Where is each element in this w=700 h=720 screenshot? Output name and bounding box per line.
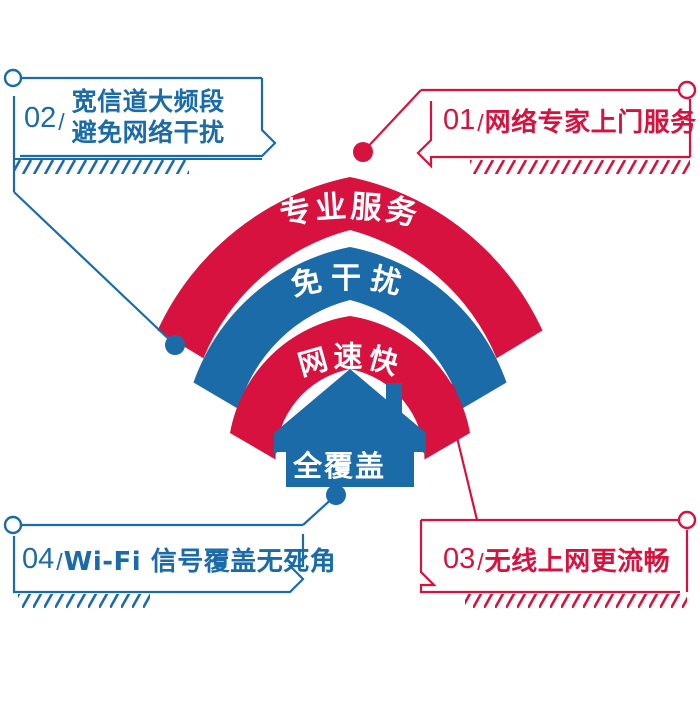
callout-03-number: 03	[443, 543, 475, 576]
callout-04-text: Wi-Fi 信号覆盖无死角	[64, 541, 337, 578]
callout-03[interactable]: 03 / 无线上网更流畅	[443, 541, 670, 578]
callout-02-line2: 避免网络干扰	[72, 118, 225, 147]
hatch-03	[465, 594, 687, 608]
dot-02	[165, 335, 185, 355]
endpoint-circle-04	[5, 517, 21, 533]
callout-01-number: 01	[443, 104, 475, 137]
endpoint-circle-02	[5, 70, 21, 86]
callout-01[interactable]: 01 / 网络专家上门服务	[443, 102, 697, 139]
connector-02-diagonal	[14, 192, 175, 345]
callout-04-number: 04	[22, 543, 54, 576]
connector-04	[20, 495, 336, 525]
callout-02-number: 02	[24, 102, 56, 135]
infographic-canvas: 专业服务 免干扰 网速快 全覆盖 02 / 宽信道大频段 避免网络干扰 01 /…	[0, 0, 700, 720]
house-label: 全覆盖	[293, 443, 386, 485]
callout-01-text: 网络专家上门服务	[485, 102, 697, 139]
dot-04	[326, 485, 346, 505]
connector-01-diagonal	[363, 90, 421, 152]
callout-02-text: 宽信道大频段 避免网络干扰	[72, 86, 225, 148]
callout-02-line1: 宽信道大频段	[72, 87, 225, 116]
hatch-04	[18, 594, 150, 608]
callout-04[interactable]: 04 / Wi-Fi 信号覆盖无死角	[22, 541, 336, 578]
dot-01	[353, 142, 373, 162]
hatch-02	[14, 160, 189, 174]
callout-02[interactable]: 02 / 宽信道大频段 避免网络干扰	[24, 86, 225, 148]
callout-02-separator: /	[58, 109, 64, 136]
endpoint-circle-01	[679, 82, 695, 98]
house-chimney	[386, 383, 402, 427]
endpoint-circle-03	[679, 512, 695, 528]
callout-03-separator: /	[477, 549, 483, 576]
callout-01-separator: /	[477, 110, 483, 137]
dot-03	[436, 382, 456, 402]
callout-03-text: 无线上网更流畅	[485, 541, 671, 578]
hatch-01	[470, 160, 690, 174]
callout-04-separator: /	[56, 549, 62, 576]
